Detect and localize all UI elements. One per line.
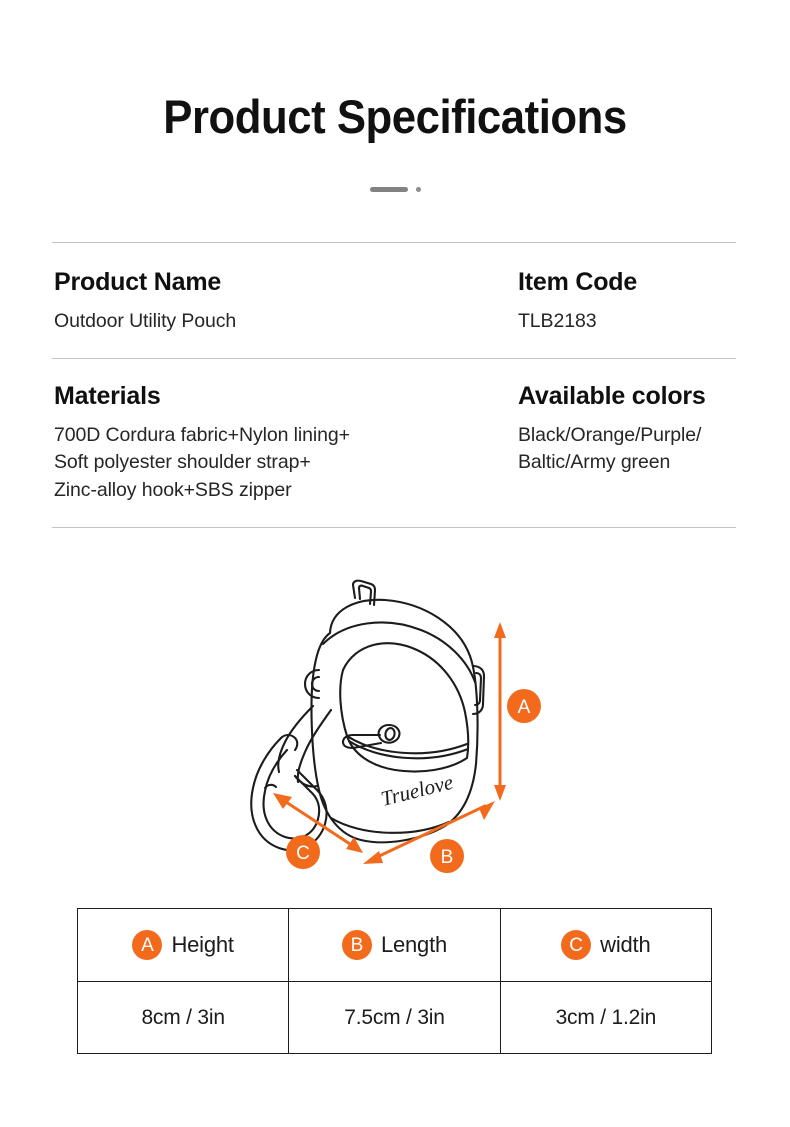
spec-label-materials: Materials: [54, 381, 518, 411]
brand-logo-text: Truelove: [378, 770, 455, 811]
hook-connector-right: [298, 710, 331, 782]
title-decoration: [0, 183, 790, 195]
badge-a-icon: A: [132, 930, 162, 960]
spec-row-product: Product Name Outdoor Utility Pouch Item …: [52, 243, 736, 358]
spec-cell-materials: Materials 700D Cordura fabric+Nylon lini…: [52, 359, 518, 527]
dim-header-label-b: Length: [381, 932, 447, 958]
dim-header-label-a: Height: [171, 932, 233, 958]
pocket-zipper-line: [347, 736, 467, 753]
badge-b-label: B: [441, 847, 454, 868]
table-row-values: 8cm / 3in 7.5cm / 3in 3cm / 1.2in: [78, 982, 712, 1054]
side-anchor-left-inner: [312, 677, 319, 691]
specifications-section: Product Name Outdoor Utility Pouch Item …: [52, 242, 736, 528]
spec-label-item-code: Item Code: [518, 267, 736, 297]
spec-value-line: Soft polyester shoulder strap+: [54, 449, 518, 477]
carabiner-outer: [251, 738, 326, 850]
table-row-headers: A Height B Length C width: [78, 909, 712, 982]
decoration-dot: [416, 187, 421, 192]
spec-cell-item-code: Item Code TLB2183: [518, 243, 736, 358]
spec-cell-available-colors: Available colors Black/Orange/Purple/ Ba…: [518, 359, 736, 527]
carabiner-inner: [264, 750, 320, 838]
dim-value-a: 8cm / 3in: [141, 1006, 224, 1029]
dim-header-label-c: width: [600, 932, 650, 958]
spec-value-product-name: Outdoor Utility Pouch: [54, 308, 518, 336]
spec-value-line: Baltic/Army green: [518, 449, 736, 477]
page-title: Product Specifications: [28, 92, 763, 141]
badge-a-label: A: [518, 697, 531, 718]
zipper-slider-hole: [384, 727, 395, 741]
spec-value-line: Zinc-alloy hook+SBS zipper: [54, 477, 518, 505]
spec-label-product-name: Product Name: [54, 267, 518, 297]
dim-value-cell-a: 8cm / 3in: [78, 982, 289, 1054]
dim-value-cell-c: 3cm / 1.2in: [500, 982, 711, 1054]
carabiner-gate-notch: [265, 785, 276, 788]
dim-value-b: 7.5cm / 3in: [344, 1006, 445, 1029]
spec-cell-product-name: Product Name Outdoor Utility Pouch: [52, 243, 518, 358]
spec-label-available-colors: Available colors: [518, 381, 736, 411]
spec-row-materials: Materials 700D Cordura fabric+Nylon lini…: [52, 359, 736, 527]
spec-divider-bottom: [52, 527, 736, 528]
dim-header-cell-c: C width: [500, 909, 711, 982]
spec-value-line: TLB2183: [518, 308, 736, 336]
decoration-bar: [370, 187, 408, 192]
bag-top-seam: [323, 622, 475, 682]
product-illustration: Truelove A: [235, 578, 565, 898]
dimensions-table: A Height B Length C width 8cm / 3in 7.5c…: [77, 908, 712, 1054]
spec-value-materials: 700D Cordura fabric+Nylon lining+ Soft p…: [54, 422, 518, 505]
spec-value-line: Outdoor Utility Pouch: [54, 308, 518, 336]
spec-value-item-code: TLB2183: [518, 308, 736, 336]
spec-value-line: Black/Orange/Purple/: [518, 422, 736, 450]
dim-value-cell-b: 7.5cm / 3in: [289, 982, 500, 1054]
dimension-arrow-a: [494, 622, 506, 801]
spec-value-line: 700D Cordura fabric+Nylon lining+: [54, 422, 518, 450]
badge-c-label: C: [296, 843, 310, 864]
page-header: Product Specifications: [0, 92, 790, 141]
dim-header-cell-b: B Length: [289, 909, 500, 982]
dim-value-c: 3cm / 1.2in: [556, 1006, 657, 1029]
badge-c-icon: C: [561, 930, 591, 960]
dim-header-cell-a: A Height: [78, 909, 289, 982]
badge-b-icon: B: [342, 930, 372, 960]
spec-value-available-colors: Black/Orange/Purple/ Baltic/Army green: [518, 422, 736, 477]
